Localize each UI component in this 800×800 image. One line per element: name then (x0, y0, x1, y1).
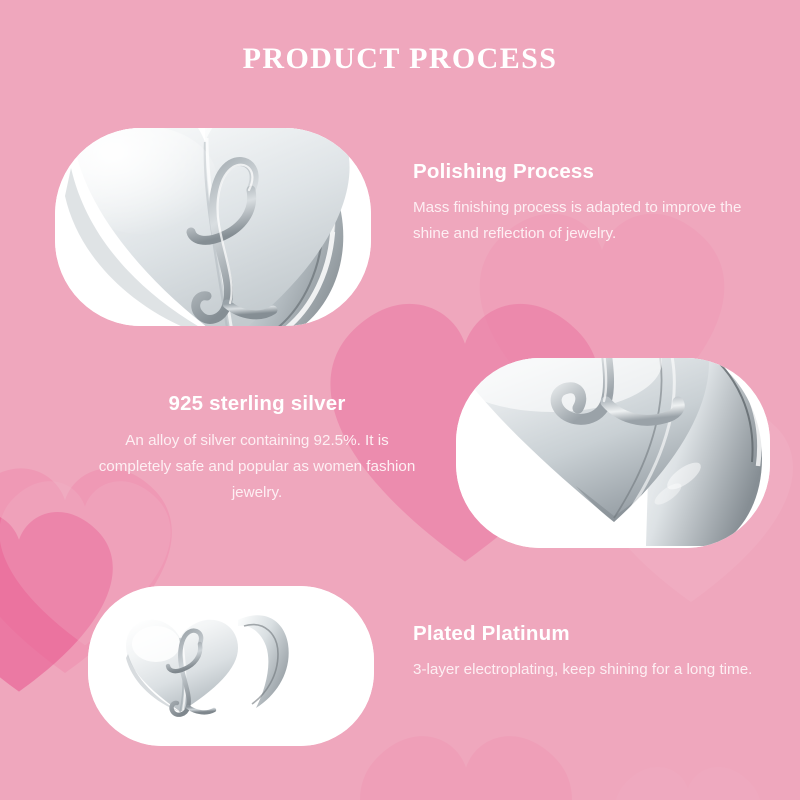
section-text-sterling-silver: 925 sterling silver An alloy of silver c… (92, 392, 422, 506)
section-body: An alloy of silver containing 92.5%. It … (92, 428, 422, 506)
section-body: Mass finishing process is adapted to imp… (413, 195, 763, 247)
product-image-card-polishing (55, 128, 371, 326)
page-title: PRODUCT PROCESS (0, 42, 800, 76)
product-image-card-plated-platinum (88, 586, 374, 746)
product-process-infographic: PRODUCT PROCESS (0, 0, 800, 800)
section-heading: Polishing Process (413, 160, 763, 184)
silver-heart-charm-full-image (88, 586, 374, 746)
decorative-heart-icon (336, 700, 596, 800)
silver-heart-charm-bottom-closeup-image (456, 358, 770, 548)
section-body: 3-layer electroplating, keep shining for… (413, 657, 763, 683)
section-text-polishing: Polishing Process Mass finishing process… (413, 160, 763, 247)
section-heading: Plated Platinum (413, 622, 763, 646)
section-heading: 925 sterling silver (92, 392, 422, 416)
product-image-card-sterling-silver (456, 358, 770, 548)
decorative-heart-icon (598, 742, 778, 800)
section-text-plated-platinum: Plated Platinum 3-layer electroplating, … (413, 622, 763, 683)
silver-heart-charm-closeup-image (55, 128, 371, 326)
